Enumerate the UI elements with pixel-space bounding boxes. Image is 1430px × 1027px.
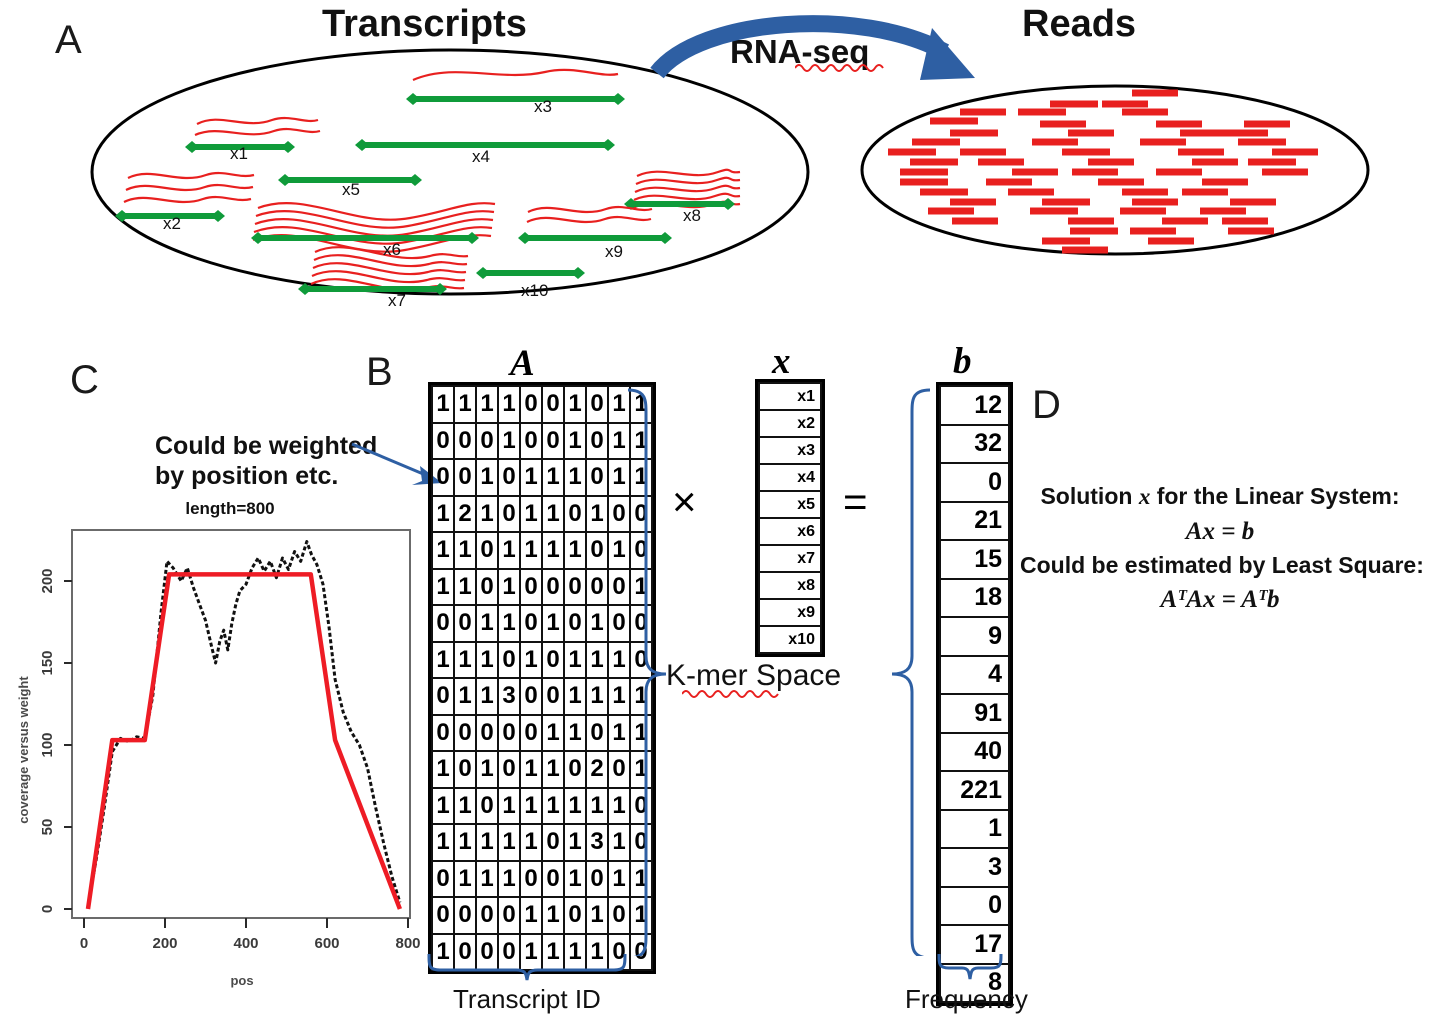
matrix-cell: 1	[520, 532, 542, 569]
matrix-cell: 0	[564, 751, 586, 788]
vector-x-cell: x4	[759, 464, 821, 491]
vector-x-row: x4	[759, 464, 821, 491]
matrix-cell: 0	[586, 532, 608, 569]
x-tick-400: 400	[233, 935, 258, 952]
matrix-cell: 0	[432, 897, 454, 934]
matrix-cell: 1	[432, 788, 454, 825]
vector-x-row: x2	[759, 410, 821, 437]
x-tick-600: 600	[314, 935, 339, 952]
matrix-cell: 0	[498, 642, 520, 679]
vector-x-row: x5	[759, 491, 821, 518]
matrix-cell: 0	[586, 459, 608, 496]
matrix-cell: 0	[432, 678, 454, 715]
matrix-row: 1101111110	[432, 788, 652, 825]
matrix-cell: 0	[476, 897, 498, 934]
matrix-cell: 1	[476, 459, 498, 496]
transcript-label-x8: x8	[683, 206, 701, 226]
vector-x-cell: x2	[759, 410, 821, 437]
matrix-cell: 0	[586, 569, 608, 606]
vector-b-table: 12320211518949140221130178	[939, 385, 1010, 1003]
matrix-cell: 0	[476, 715, 498, 752]
matrix-row: 1111101310	[432, 824, 652, 861]
transcript-label-x6: x6	[383, 240, 401, 260]
transcript-label-x10: x10	[521, 281, 548, 301]
matrix-cell: 1	[432, 496, 454, 533]
matrix-cell: 1	[454, 861, 476, 898]
vector-b-row: 0	[940, 463, 1009, 502]
y-axis-label: coverage versus weight	[16, 676, 31, 824]
matrix-row: 1010110201	[432, 751, 652, 788]
matrix-cell: 1	[586, 605, 608, 642]
vector-b-cell: 91	[940, 694, 1009, 733]
matrix-cell: 1	[564, 715, 586, 752]
matrix-cell: 1	[520, 459, 542, 496]
matrix-cell: 1	[564, 386, 586, 423]
matrix-cell: 1	[476, 386, 498, 423]
y-tick-0: 0	[39, 905, 56, 913]
vector-b-cell: 3	[940, 848, 1009, 887]
matrix-cell: 1	[586, 788, 608, 825]
matrix-cell: 1	[542, 496, 564, 533]
matrix-cell: 1	[432, 751, 454, 788]
matrix-cell: 1	[542, 788, 564, 825]
vector-b-row: 91	[940, 694, 1009, 733]
matrix-cell: 1	[586, 496, 608, 533]
transcripts-ellipse	[92, 50, 808, 294]
matrix-cell: 1	[476, 824, 498, 861]
matrix-row: 0111001011	[432, 861, 652, 898]
matrix-cell: 0	[542, 569, 564, 606]
panel-a-diagram	[0, 0, 1430, 330]
matrix-cell: 1	[476, 678, 498, 715]
panel-b-letter: B	[366, 352, 393, 392]
matrix-cell: 0	[476, 569, 498, 606]
matrix-cell: 1	[454, 788, 476, 825]
matrix-cell: 1	[586, 897, 608, 934]
matrix-cell: 0	[454, 751, 476, 788]
transcript-label-x1: x1	[230, 144, 248, 164]
vector-x-row: x3	[759, 437, 821, 464]
vector-b-cell: 40	[940, 733, 1009, 772]
matrix-cell: 0	[542, 386, 564, 423]
matrix-a-label: A	[510, 342, 535, 385]
solution-line: Solution x for the Linear System:	[1020, 480, 1420, 514]
vector-b-row: 4	[940, 656, 1009, 695]
matrix-cell: 1	[476, 605, 498, 642]
solution-line-post: for the Linear System:	[1150, 483, 1399, 509]
matrix-cell: 0	[432, 459, 454, 496]
matrix-cell: 0	[476, 788, 498, 825]
matrix-cell: 0	[454, 897, 476, 934]
vector-b-cell: 32	[940, 425, 1009, 464]
matrix-cell: 1	[586, 642, 608, 679]
vector-b-cell: 0	[940, 887, 1009, 926]
vector-b-cell: 21	[940, 502, 1009, 541]
matrix-cell: 1	[498, 386, 520, 423]
matrix-cell: 0	[586, 386, 608, 423]
matrix-cell: 3	[498, 678, 520, 715]
matrix-cell: 0	[498, 496, 520, 533]
matrix-cell: 1	[520, 824, 542, 861]
matrix-cell: 1	[432, 386, 454, 423]
matrix-cell: 0	[432, 861, 454, 898]
matrix-cell: 1	[542, 897, 564, 934]
matrix-row: 0000110101	[432, 897, 652, 934]
matrix-cell: 0	[520, 861, 542, 898]
matrix-cell: 0	[586, 861, 608, 898]
vector-b-row: 0	[940, 887, 1009, 926]
matrix-cell: 0	[432, 715, 454, 752]
matrix-cell: 1	[520, 496, 542, 533]
matrix-cell: 1	[520, 642, 542, 679]
equation-normal: AᵀAx = Aᵀb	[1020, 582, 1420, 618]
matrix-cell: 0	[520, 678, 542, 715]
x-tick-800: 800	[395, 935, 420, 952]
vector-x-cell: x5	[759, 491, 821, 518]
matrix-cell: 1	[454, 678, 476, 715]
rnaseq-arrow-icon	[657, 24, 975, 80]
vector-b-row: 3	[940, 848, 1009, 887]
vector-b: 12320211518949140221130178	[936, 382, 1013, 1006]
matrix-cell: 0	[520, 569, 542, 606]
matrix-cell: 1	[520, 897, 542, 934]
vector-x-cell: x8	[759, 572, 821, 599]
panel-c-letter: C	[70, 360, 99, 400]
matrix-cell: 0	[476, 423, 498, 460]
matrix-cell: 1	[542, 715, 564, 752]
vector-x-row: x6	[759, 518, 821, 545]
matrix-cell: 1	[498, 605, 520, 642]
vector-b-cell: 1	[940, 810, 1009, 849]
matrix-cell: 1	[542, 751, 564, 788]
matrix-cell: 1	[564, 423, 586, 460]
matrix-cell: 1	[432, 642, 454, 679]
vector-b-row: 12	[940, 386, 1009, 425]
matrix-cell: 1	[454, 642, 476, 679]
matrix-cell: 0	[454, 459, 476, 496]
matrix-cell: 0	[520, 605, 542, 642]
panel-d-letter: D	[1032, 385, 1061, 425]
matrix-cell: 0	[564, 496, 586, 533]
matrix-cell: 0	[498, 459, 520, 496]
matrix-cell: 0	[520, 715, 542, 752]
matrix-cell: 1	[564, 642, 586, 679]
matrix-cell: 0	[542, 824, 564, 861]
vector-b-row: 21	[940, 502, 1009, 541]
y-tick-100: 100	[39, 732, 56, 757]
vector-x-cell: x9	[759, 599, 821, 626]
matrix-row: 0010111011	[432, 459, 652, 496]
matrix-cell: 0	[454, 605, 476, 642]
x-axis-label: pos	[230, 973, 253, 988]
matrix-row: 0011010100	[432, 605, 652, 642]
vector-x-cell: x10	[759, 626, 821, 653]
coverage-plot: length=800 0 50 100 150 200 coverage ver…	[12, 420, 422, 1000]
matrix-cell: 1	[498, 423, 520, 460]
matrix-cell: 2	[586, 751, 608, 788]
equals-symbol: =	[843, 478, 868, 526]
matrix-cell: 1	[498, 532, 520, 569]
vector-x-row: x1	[759, 383, 821, 410]
matrix-row: 1110101110	[432, 642, 652, 679]
y-tick-50: 50	[39, 819, 56, 836]
matrix-cell: 0	[564, 605, 586, 642]
vector-x-cell: x1	[759, 383, 821, 410]
matrix-cell: 1	[454, 386, 476, 423]
x-tick-200: 200	[152, 935, 177, 952]
transcript-label-x3: x3	[534, 97, 552, 117]
transcript-label-x4: x4	[472, 147, 490, 167]
vector-b-cell: 12	[940, 386, 1009, 425]
transcript-label-x5: x5	[342, 180, 360, 200]
vector-b-cell: 4	[940, 656, 1009, 695]
matrix-cell: 2	[454, 496, 476, 533]
matrix-row: 0113001111	[432, 678, 652, 715]
vector-b-cell: 221	[940, 771, 1009, 810]
solution-line-var: x	[1139, 484, 1151, 509]
kmer-brace-right-icon	[878, 386, 938, 956]
matrix-cell: 1	[542, 532, 564, 569]
equation-ax-b: Ax = b	[1020, 514, 1420, 550]
vector-b-row: 1	[940, 810, 1009, 849]
kmer-squiggle-icon	[682, 688, 787, 698]
vector-x-label: x	[772, 340, 791, 383]
matrix-cell: 0	[586, 715, 608, 752]
matrix-cell: 1	[586, 678, 608, 715]
transcript-id-label: Transcript ID	[453, 984, 601, 1015]
vector-b-row: 32	[940, 425, 1009, 464]
vector-b-label: b	[953, 340, 972, 383]
figure-root: A Transcripts Reads RNA-seq	[0, 0, 1430, 1027]
matrix-cell: 1	[476, 496, 498, 533]
matrix-cell: 0	[498, 715, 520, 752]
matrix-cell: 0	[542, 423, 564, 460]
matrix-row: 1101111010	[432, 532, 652, 569]
matrix-cell: 0	[498, 897, 520, 934]
matrix-row: 1111001011	[432, 386, 652, 423]
matrix-cell: 1	[454, 532, 476, 569]
y-tick-150: 150	[39, 650, 56, 675]
matrix-cell: 1	[564, 532, 586, 569]
matrix-cell: 1	[542, 605, 564, 642]
vector-b-row: 40	[940, 733, 1009, 772]
vector-x-row: x8	[759, 572, 821, 599]
matrix-cell: 0	[476, 532, 498, 569]
transcript-label-x7: x7	[388, 291, 406, 311]
vector-b-cell: 15	[940, 540, 1009, 579]
solution-line-pre: Solution	[1040, 483, 1138, 509]
matrix-cell: 0	[454, 715, 476, 752]
matrix-cell: 1	[498, 861, 520, 898]
transcript-label-x2: x2	[163, 214, 181, 234]
matrix-cell: 1	[498, 788, 520, 825]
matrix-cell: 0	[498, 751, 520, 788]
matrix-cell: 1	[476, 861, 498, 898]
x-tick-0: 0	[80, 935, 88, 952]
matrix-row: 1101000001	[432, 569, 652, 606]
vector-b-row: 9	[940, 617, 1009, 656]
matrix-cell: 1	[564, 824, 586, 861]
vector-x-table: x1x2x3x4x5x6x7x8x9x10	[758, 382, 822, 654]
matrix-cell: 1	[498, 569, 520, 606]
x-axis	[84, 918, 408, 928]
matrix-cell: 0	[564, 569, 586, 606]
matrix-cell: 3	[586, 824, 608, 861]
matrix-cell: 0	[454, 423, 476, 460]
vector-b-row: 221	[940, 771, 1009, 810]
matrix-cell: 1	[454, 824, 476, 861]
matrix-cell: 0	[432, 605, 454, 642]
matrix-cell: 1	[432, 532, 454, 569]
matrix-row: 1210110100	[432, 496, 652, 533]
panel-d-text: Solution x for the Linear System: Ax = b…	[1020, 480, 1420, 617]
vector-x-row: x10	[759, 626, 821, 653]
frequency-brace-icon	[936, 952, 1006, 982]
vector-x-cell: x3	[759, 437, 821, 464]
matrix-cell: 0	[586, 423, 608, 460]
matrix-cell: 1	[498, 824, 520, 861]
matrix-cell: 1	[476, 751, 498, 788]
matrix-cell: 0	[564, 897, 586, 934]
vector-b-cell: 0	[940, 463, 1009, 502]
matrix-cell: 1	[564, 861, 586, 898]
vector-b-cell: 9	[940, 617, 1009, 656]
plot-title: length=800	[185, 499, 274, 518]
y-tick-200: 200	[39, 568, 56, 593]
vector-x-row: x7	[759, 545, 821, 572]
matrix-cell: 1	[432, 569, 454, 606]
matrix-cell: 1	[520, 788, 542, 825]
matrix-cell: 1	[564, 788, 586, 825]
matrix-cell: 1	[432, 824, 454, 861]
matrix-cell: 1	[564, 459, 586, 496]
matrix-cell: 0	[542, 678, 564, 715]
vector-x-cell: x7	[759, 545, 821, 572]
matrix-row: 0001001011	[432, 423, 652, 460]
least-square-line: Could be estimated by Least Square:	[1020, 549, 1420, 582]
matrix-cell: 1	[564, 678, 586, 715]
matrix-cell: 0	[542, 642, 564, 679]
vector-b-cell: 18	[940, 579, 1009, 618]
matrix-cell: 0	[520, 386, 542, 423]
matrix-cell: 1	[454, 569, 476, 606]
y-axis	[64, 581, 72, 909]
transcript-label-x9: x9	[605, 242, 623, 262]
matrix-cell: 0	[520, 423, 542, 460]
vector-x: x1x2x3x4x5x6x7x8x9x10	[755, 379, 825, 657]
matrix-cell: 0	[432, 423, 454, 460]
transcript-id-brace-icon	[426, 952, 630, 982]
frequency-label: Frequency	[905, 984, 1028, 1015]
vector-x-cell: x6	[759, 518, 821, 545]
vector-b-row: 15	[940, 540, 1009, 579]
vector-x-row: x9	[759, 599, 821, 626]
vector-b-row: 18	[940, 579, 1009, 618]
matrix-cell: 1	[476, 642, 498, 679]
matrix-cell: 0	[542, 861, 564, 898]
matrix-cell: 1	[520, 751, 542, 788]
matrix-row: 0000011011	[432, 715, 652, 752]
matrix-cell: 1	[542, 459, 564, 496]
